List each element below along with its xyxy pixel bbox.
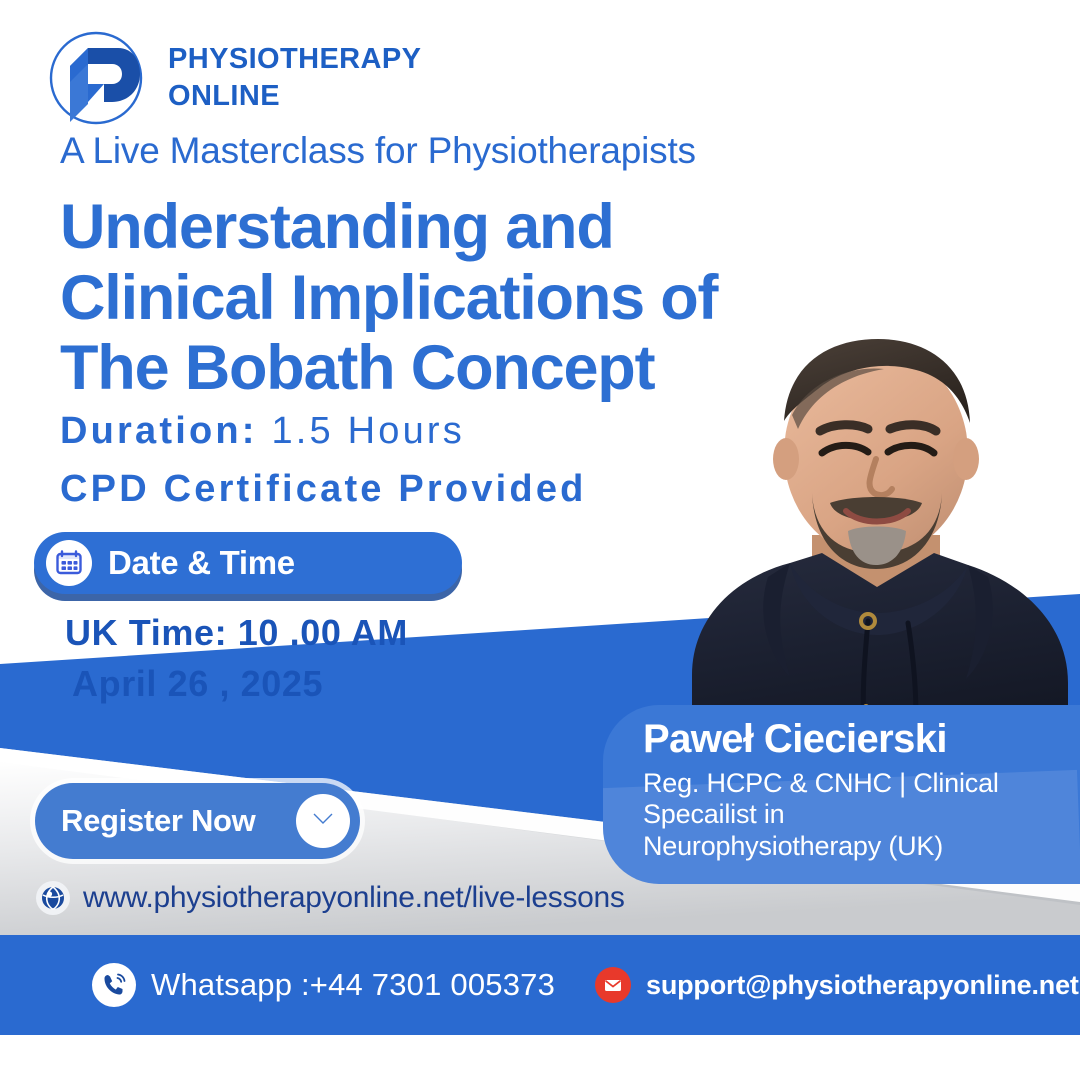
speaker-card: Paweł Ciecierski Reg. HCPC & CNHC | Clin… xyxy=(603,705,1080,884)
brand-name: PHYSIOTHERAPY ONLINE xyxy=(168,41,421,115)
website-line[interactable]: www.physiotherapyonline.net/live-lessons xyxy=(36,881,625,915)
speaker-portrait-illustration xyxy=(672,325,1080,745)
speaker-role: Reg. HCPC & CNHC | Clinical Specailist i… xyxy=(643,768,1070,862)
brand-name-line2: ONLINE xyxy=(168,78,421,115)
title-line-3: The Bobath Concept xyxy=(60,333,717,404)
email-contact[interactable]: support@physiotherapyonline.net xyxy=(595,967,1079,1003)
duration-label: Duration: xyxy=(60,410,258,452)
register-now-label: Register Now xyxy=(61,803,256,839)
duration-value: 1.5 Hours xyxy=(271,410,465,452)
date-time-badge: Date & Time xyxy=(34,532,462,594)
event-time: UK Time: 10 .00 AM xyxy=(65,612,408,654)
speaker-role-line3: Neurophysiotherapy (UK) xyxy=(643,831,1070,862)
brand-name-line1: PHYSIOTHERAPY xyxy=(168,41,421,78)
cpd-line: CPD Certificate Provided xyxy=(60,468,587,511)
double-chevron-down-icon xyxy=(296,794,350,848)
brand-logo: PHYSIOTHERAPY ONLINE xyxy=(44,26,421,130)
speaker-name: Paweł Ciecierski xyxy=(643,719,1070,759)
speaker-role-line1: Reg. HCPC & CNHC | Clinical xyxy=(643,768,1070,799)
eyebrow-text: A Live Masterclass for Physiotherapists xyxy=(60,130,696,172)
title-line-2: Clinical Implications of xyxy=(60,263,717,334)
webinar-poster: PHYSIOTHERAPY ONLINE A Live Masterclass … xyxy=(0,0,1080,1080)
contact-footer: Whatsapp :+44 7301 005373 support@physio… xyxy=(0,935,1080,1035)
duration-line: Duration: 1.5 Hours xyxy=(60,410,465,453)
title-line-1: Understanding and xyxy=(60,192,717,263)
register-now-button[interactable]: Register Now xyxy=(35,783,360,859)
physiotherapy-online-logo-icon xyxy=(44,26,148,130)
globe-icon xyxy=(36,881,70,915)
website-url: www.physiotherapyonline.net/live-lessons xyxy=(83,881,625,915)
calendar-icon xyxy=(46,540,92,586)
event-date: April 26 , 2025 xyxy=(72,663,323,705)
speaker-photo xyxy=(672,325,1080,745)
page-title: Understanding and Clinical Implications … xyxy=(60,192,717,404)
speaker-role-line2: Specailist in xyxy=(643,799,1070,830)
whatsapp-phone-icon xyxy=(92,963,136,1007)
whatsapp-contact[interactable]: Whatsapp :+44 7301 005373 xyxy=(92,963,555,1007)
date-time-label: Date & Time xyxy=(108,544,295,582)
whatsapp-number: Whatsapp :+44 7301 005373 xyxy=(151,967,555,1003)
email-address: support@physiotherapyonline.net xyxy=(646,970,1079,1001)
envelope-icon xyxy=(595,967,631,1003)
